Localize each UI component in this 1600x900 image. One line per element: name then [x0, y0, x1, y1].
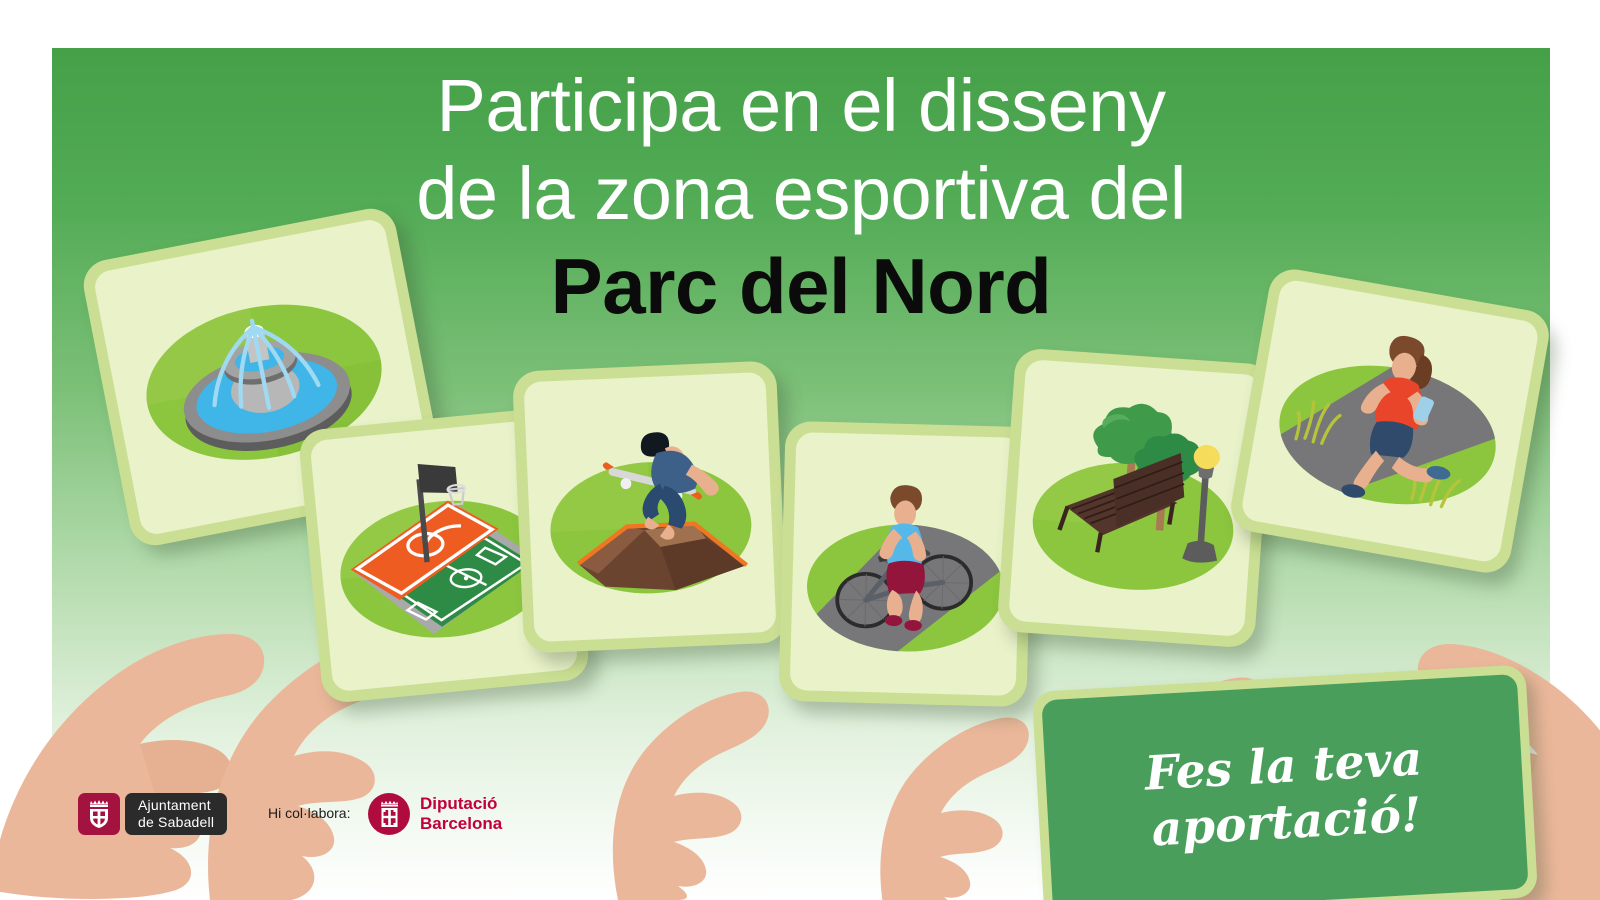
card-bench-face — [1008, 359, 1262, 637]
diputacio-line-2: Barcelona — [420, 814, 502, 834]
skateboarder-icon — [523, 372, 776, 642]
logo-ajuntament-sabadell[interactable]: Ajuntament de Sabadell — [78, 793, 227, 835]
park-bench-icon — [1008, 359, 1262, 637]
logo-diputacio-barcelona[interactable]: Diputació Barcelona — [368, 793, 502, 835]
cyclist-icon — [790, 432, 1023, 696]
diputacio-line-1: Diputació — [420, 794, 502, 814]
card-run[interactable] — [1227, 265, 1553, 576]
cta-box[interactable]: Fes la teva aportació! — [1032, 664, 1538, 900]
diputacio-crest-icon — [368, 793, 410, 835]
sabadell-line-1: Ajuntament — [138, 797, 214, 814]
sabadell-line-2: de Sabadell — [138, 814, 214, 831]
sabadell-crest-icon — [78, 793, 120, 835]
footer-logos: Ajuntament de Sabadell Hi col·labora: — [0, 788, 1600, 858]
card-skate[interactable] — [512, 360, 788, 653]
card-skate-face — [523, 372, 776, 642]
diputacio-name: Diputació Barcelona — [420, 794, 502, 834]
sabadell-name-badge: Ajuntament de Sabadell — [125, 793, 227, 835]
collaborate-label: Hi col·labora: — [268, 805, 350, 821]
runner-icon — [1240, 278, 1540, 564]
cta-inner: Fes la teva aportació! — [1041, 674, 1528, 900]
card-bike-face — [790, 432, 1023, 696]
poster-canvas: Participa en el disseny de la zona espor… — [0, 0, 1600, 900]
card-run-face — [1240, 278, 1540, 564]
card-bike[interactable] — [778, 421, 1033, 707]
